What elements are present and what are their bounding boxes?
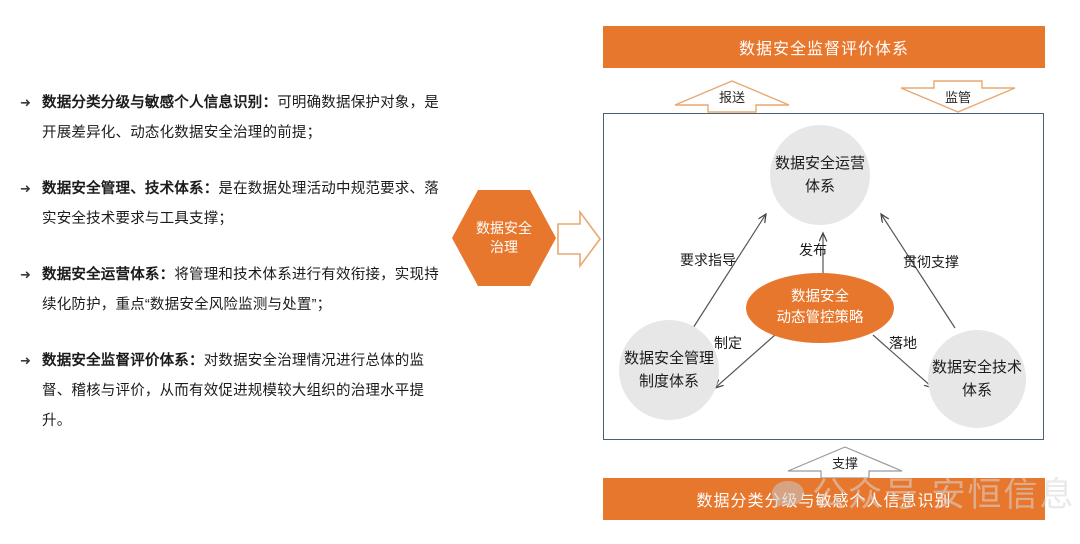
bullet-lead: 数据安全管理、技术体系： [42,181,218,197]
edge-label-requirement-guidance: 要求指导 [680,250,736,270]
bullet-text: 数据安全运营体系：将管理和技术体系进行有效衔接，实现持续化防护，重点“数据安全风… [42,260,440,320]
edge-label-implement: 落地 [889,333,917,353]
arrow-bullet-icon: ➜ [20,260,42,290]
edge-label-formulate: 制定 [714,333,742,353]
list-item: ➜ 数据分类分级与敏感个人信息识别：可明确数据保护对象，是开展差异化、动态化数据… [20,88,440,148]
regulate-arrow-label: 监管 [898,78,1018,114]
governance-hexagon-group: 数据安全治理 [452,190,602,290]
list-item: ➜ 数据安全运营体系：将管理和技术体系进行有效衔接，实现持续化防护，重点“数据安… [20,260,440,320]
right-chevron-icon [556,208,602,270]
bullet-lead: 数据分类分级与敏感个人信息识别： [42,95,277,111]
bullet-lead: 数据安全运营体系： [42,267,174,283]
bullet-text: 数据安全监督评价体系：对数据安全治理情况进行总体的监督、稽核与评价，从而有效促进… [42,346,440,436]
node-security-operations: 数据安全运营体系 [770,125,870,225]
bullet-text: 数据分类分级与敏感个人信息识别：可明确数据保护对象，是开展差异化、动态化数据安全… [42,88,440,148]
hexagon-shape: 数据安全治理 [452,190,556,286]
report-up-arrow: 报送 [672,78,792,114]
center-label-line1: 数据安全 [791,289,849,305]
arrow-bullet-icon: ➜ [20,88,42,118]
hexagon-label-line1: 数据安全 [476,220,532,236]
bullet-lead: 数据安全监督评价体系： [42,353,204,369]
bullet-text: 数据安全管理、技术体系：是在数据处理活动中规范要求、落实安全技术要求与工具支撑； [42,174,440,234]
report-arrow-label: 报送 [672,78,792,114]
regulate-down-arrow: 监管 [898,78,1018,114]
bullet-list: ➜ 数据分类分级与敏感个人信息识别：可明确数据保护对象，是开展差异化、动态化数据… [20,88,440,462]
edge-label-publish: 发布 [799,240,827,260]
classification-identification-bar: 数据分类分级与敏感个人信息识别 [603,478,1045,520]
arrow-bullet-icon: ➜ [20,174,42,204]
node-dynamic-control-policy: 数据安全动态管控策略 [746,273,894,343]
list-item: ➜ 数据安全管理、技术体系：是在数据处理活动中规范要求、落实安全技术要求与工具支… [20,174,440,234]
list-item: ➜ 数据安全监督评价体系：对数据安全治理情况进行总体的监督、稽核与评价，从而有效… [20,346,440,436]
arrow-bullet-icon: ➜ [20,346,42,376]
center-ellipse-label: 数据安全动态管控策略 [777,287,864,329]
supervision-evaluation-bar: 数据安全监督评价体系 [603,26,1045,68]
hexagon-label: 数据安全治理 [476,219,532,257]
support-up-arrow: 支撑 [785,444,905,480]
center-label-line2: 动态管控策略 [777,310,864,326]
support-arrow-label: 支撑 [785,444,905,480]
node-technology-system: 数据安全技术体系 [928,330,1026,428]
hexagon-label-line2: 治理 [490,239,518,255]
node-management-system: 数据安全管理制度体系 [619,320,719,420]
edge-label-implement-support: 贯彻支撑 [903,252,959,272]
